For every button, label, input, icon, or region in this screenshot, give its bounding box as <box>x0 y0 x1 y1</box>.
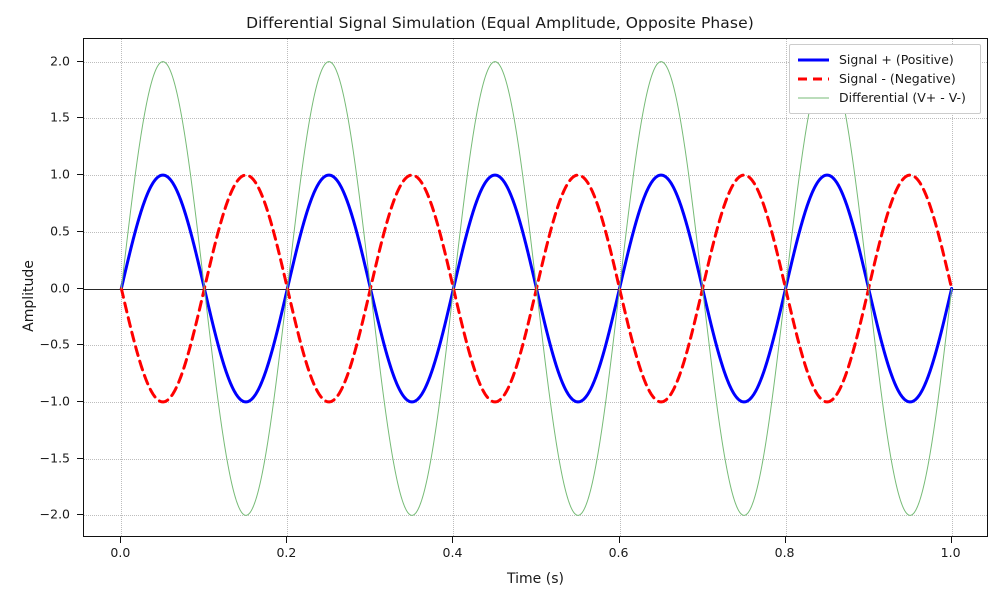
y-tick-label: −0.5 <box>8 337 70 352</box>
x-tick-label: 0.8 <box>750 545 820 560</box>
y-tick-label: 1.5 <box>8 110 70 125</box>
chart-figure: Differential Signal Simulation (Equal Am… <box>0 0 1000 600</box>
legend-label-signal-negative: Signal - (Negative) <box>839 71 956 86</box>
legend-item[interactable]: Signal - (Negative) <box>797 69 973 88</box>
y-tick-label: −1.5 <box>8 450 70 465</box>
x-tick-mark <box>619 537 620 543</box>
x-tick-label: 1.0 <box>916 545 986 560</box>
y-tick-label: −1.0 <box>8 393 70 408</box>
x-tick-mark <box>785 537 786 543</box>
legend-label-signal-positive: Signal + (Positive) <box>839 52 954 67</box>
x-tick-mark <box>951 537 952 543</box>
y-tick-label: −2.0 <box>8 507 70 522</box>
y-tick-label: 1.0 <box>8 167 70 182</box>
legend-swatch-signal-positive <box>797 53 830 67</box>
x-axis-label: Time (s) <box>83 571 988 587</box>
y-tick-label: 2.0 <box>8 53 70 68</box>
chart-legend: Signal + (Positive) Signal - (Negative) … <box>789 44 981 114</box>
legend-item[interactable]: Signal + (Positive) <box>797 50 973 69</box>
y-tick-label: 0.0 <box>8 280 70 295</box>
legend-item[interactable]: Differential (V+ - V-) <box>797 88 973 107</box>
x-tick-mark <box>286 537 287 543</box>
legend-swatch-differential <box>797 91 830 105</box>
legend-swatch-signal-negative <box>797 72 830 86</box>
chart-title: Differential Signal Simulation (Equal Am… <box>0 14 1000 32</box>
y-tick-label: 0.5 <box>8 223 70 238</box>
x-tick-label: 0.2 <box>251 545 321 560</box>
x-tick-mark <box>452 537 453 543</box>
series-line <box>121 62 951 516</box>
x-tick-mark <box>120 537 121 543</box>
x-tick-label: 0.6 <box>584 545 654 560</box>
x-tick-label: 0.4 <box>417 545 487 560</box>
legend-label-differential: Differential (V+ - V-) <box>839 90 966 105</box>
x-tick-label: 0.0 <box>85 545 155 560</box>
